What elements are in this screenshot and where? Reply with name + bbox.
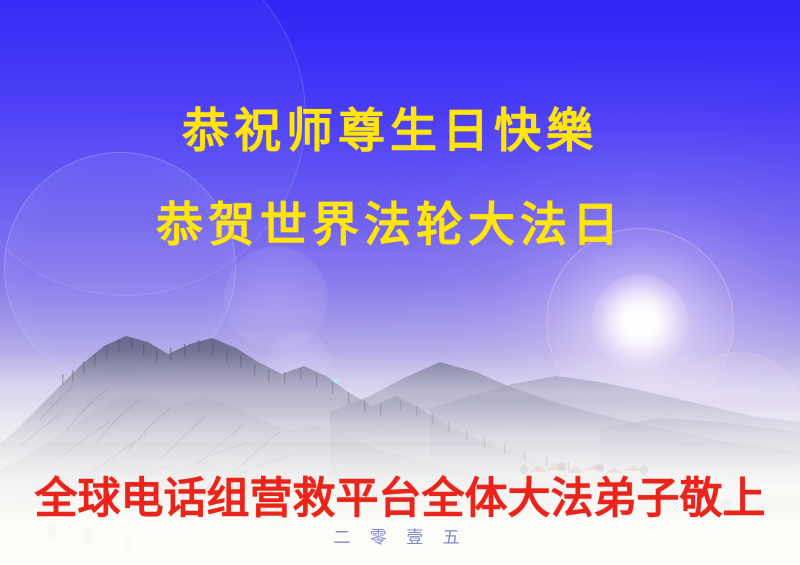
sky-gradient-background [0, 0, 800, 565]
greeting-card: 恭祝师尊生日快樂 恭贺世界法轮大法日 全球电话组营救平台全体大法弟子敬上 二 零… [0, 0, 800, 565]
